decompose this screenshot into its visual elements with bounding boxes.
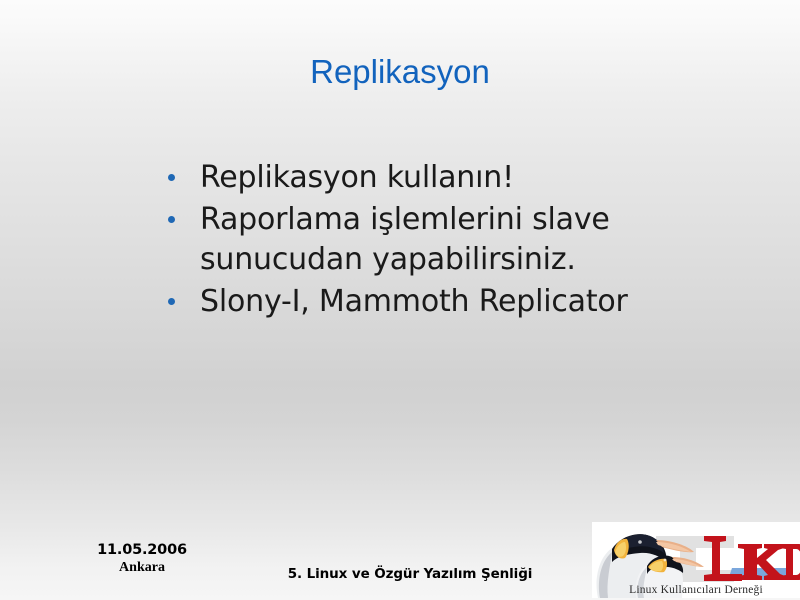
bullet-marker	[168, 282, 200, 305]
list-item-label: Raporlama işlemlerini slave sunucudan ya…	[200, 200, 760, 280]
bullet-marker	[168, 158, 200, 181]
list-item: Replikasyon kullanın!	[168, 158, 768, 198]
lkd-logo: Linux Kullanıcıları Derneği	[592, 522, 800, 598]
footer-date: 11.05.2006	[62, 542, 222, 559]
page-title: Replikasyon	[0, 54, 800, 90]
list-item-label: Slony-I, Mammoth Replicator	[200, 282, 760, 322]
logo-tagline: Linux Kullanıcıları Derneği	[629, 584, 763, 596]
footer-event-title: 5. Linux ve Özgür Yazılım Şenliği	[180, 566, 640, 582]
slide-canvas: Replikasyon Replikasyon kullanın! Raporl…	[0, 0, 800, 600]
bullet-dot-icon	[168, 216, 175, 223]
bullet-dot-icon	[168, 174, 175, 181]
bullet-list: Replikasyon kullanın! Raporlama işlemler…	[168, 158, 768, 324]
bullet-marker	[168, 200, 200, 223]
list-item-label: Replikasyon kullanın!	[200, 158, 760, 198]
list-item: Raporlama işlemlerini slave sunucudan ya…	[168, 200, 768, 280]
list-item: Slony-I, Mammoth Replicator	[168, 282, 768, 322]
bullet-dot-icon	[168, 298, 175, 305]
